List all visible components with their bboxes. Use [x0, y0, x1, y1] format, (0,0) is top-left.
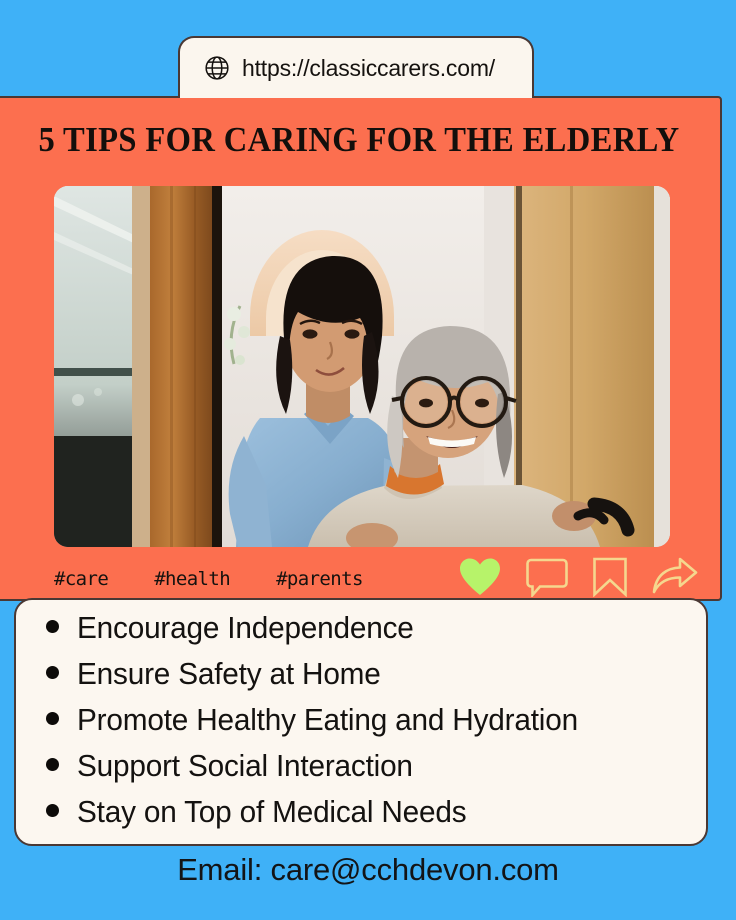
footer-email[interactable]: Email: care@cchdevon.com: [0, 852, 736, 888]
post-card: 5 TIPS FOR CARING FOR THE ELDERLY: [0, 96, 722, 601]
bullet-icon: [46, 712, 59, 725]
hashtag-care[interactable]: #care: [54, 568, 108, 590]
photo-illustration: [54, 186, 670, 547]
bullet-icon: [46, 666, 59, 679]
heart-icon[interactable]: [458, 557, 502, 602]
bullet-icon: [46, 804, 59, 817]
list-item: Stay on Top of Medical Needs: [46, 794, 706, 840]
post-actions: [458, 557, 698, 602]
comment-icon[interactable]: [526, 557, 568, 602]
url-text: https://classiccarers.com/: [242, 55, 495, 82]
share-icon[interactable]: [652, 557, 698, 602]
tip-text: Ensure Safety at Home: [77, 656, 381, 692]
post-meta-row: #care #health #parents: [0, 558, 720, 600]
post-photo: [54, 186, 670, 547]
tip-text: Promote Healthy Eating and Hydration: [77, 702, 578, 738]
bullet-icon: [46, 758, 59, 771]
list-item: Promote Healthy Eating and Hydration: [46, 702, 706, 748]
bullet-icon: [46, 620, 59, 633]
page-title: 5 TIPS FOR CARING FOR THE ELDERLY: [23, 120, 694, 160]
list-item: Support Social Interaction: [46, 748, 706, 794]
hashtag-parents[interactable]: #parents: [276, 568, 363, 590]
list-item: Encourage Independence: [46, 610, 706, 656]
tips-list-card: Encourage Independence Ensure Safety at …: [14, 598, 708, 846]
list-item: Ensure Safety at Home: [46, 656, 706, 702]
tip-text: Encourage Independence: [77, 610, 414, 646]
hashtag-health[interactable]: #health: [154, 568, 230, 590]
globe-icon: [204, 55, 230, 81]
browser-url-bar[interactable]: https://classiccarers.com/: [178, 36, 534, 98]
tip-text: Support Social Interaction: [77, 748, 413, 784]
tip-text: Stay on Top of Medical Needs: [77, 794, 466, 830]
hashtag-list: #care #health #parents: [54, 568, 363, 590]
bookmark-icon[interactable]: [592, 557, 628, 602]
